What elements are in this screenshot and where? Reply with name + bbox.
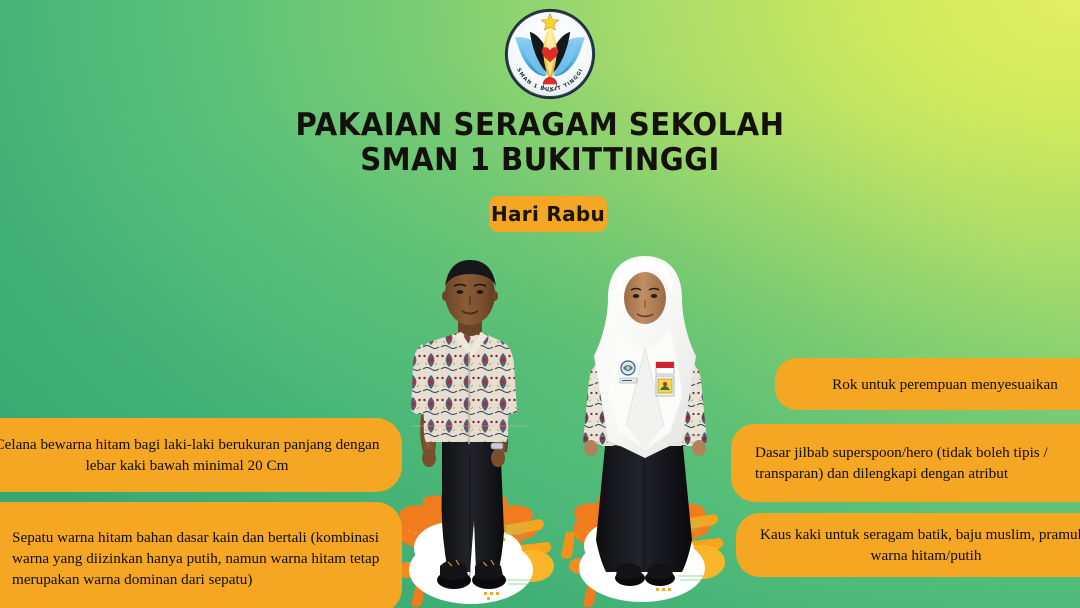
callout-skirt-text: Rok untuk perempuan menyesuaikan (793, 374, 1080, 395)
callout-pants-text: Celana bewarna hitam bagi laki-laki beru… (0, 434, 384, 476)
callout-socks: Kaus kaki untuk seragam batik, baju musl… (736, 513, 1080, 577)
callout-skirt: Rok untuk perempuan menyesuaikan (775, 358, 1080, 410)
callout-hijab: Dasar jilbab superspoon/hero (tidak bole… (731, 424, 1080, 502)
page-title: PAKAIAN SERAGAM SEKOLAH SMAN 1 BUKITTING… (0, 108, 1080, 178)
callout-hijab-text: Dasar jilbab superspoon/hero (tidak bole… (755, 442, 1080, 484)
school-crest-logo: SMAN 1 BUKIT TINGGI (504, 8, 596, 100)
callout-socks-text: Kaus kaki untuk seragam batik, baju musl… (754, 524, 1080, 566)
callout-shoes-text: Sepatu warna hitam bahan dasar kain dan … (12, 527, 384, 590)
callout-shoes: Sepatu warna hitam bahan dasar kain dan … (0, 502, 402, 608)
day-badge: Hari Rabu (489, 196, 607, 232)
female-student-photo (560, 240, 730, 608)
callout-pants: Celana bewarna hitam bagi laki-laki beru… (0, 418, 402, 492)
title-line-1: PAKAIAN SERAGAM SEKOLAH (32, 108, 1047, 142)
indonesian-flag-patch (656, 362, 674, 396)
hijab-school-badge (620, 361, 637, 383)
title-line-2: SMAN 1 BUKITTINGGI (32, 142, 1047, 178)
male-student-photo (386, 240, 556, 608)
